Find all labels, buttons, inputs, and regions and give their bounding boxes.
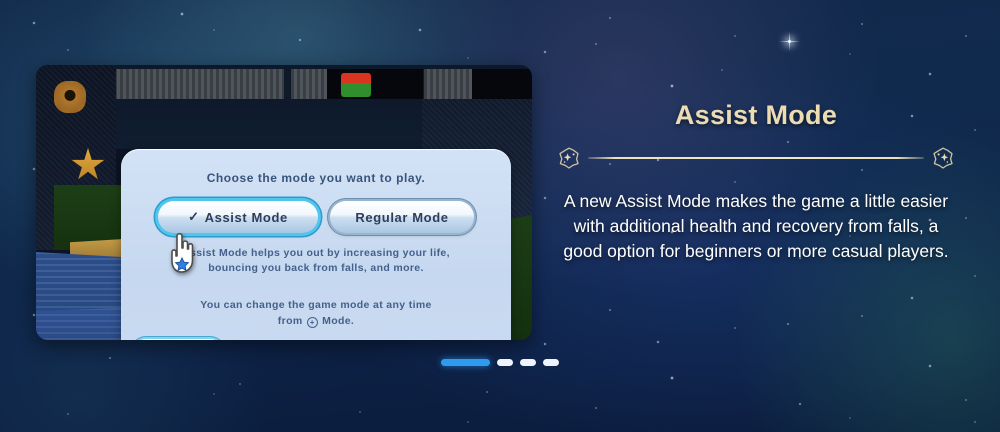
gem-sparkle-icon [930,145,956,171]
game-grate-platform [424,69,472,99]
dialog-note-prefix: from [278,315,303,327]
regular-mode-button-label: Regular Mode [355,210,448,225]
feature-info-panel: Assist Mode A new Assist [556,100,956,264]
back-button[interactable]: B Back [133,339,223,340]
assist-mode-feature-slide: Choose the mode you want to play. ✓ Assi… [0,0,1000,432]
dialog-description-line-1: Assist Mode helps you out by increasing … [121,246,511,261]
dialog-note: You can change the game mode at any time… [121,298,511,328]
dialog-description: Assist Mode helps you out by increasing … [121,246,511,276]
game-collectible-item [341,73,371,97]
game-grate-platform [114,69,284,99]
pagination-dot-3[interactable] [520,359,536,366]
regular-mode-button[interactable]: Regular Mode [330,201,474,233]
dialog-prompt-text: Choose the mode you want to play. [121,171,511,185]
gem-sparkle-icon [556,145,582,171]
pagination-dot-2[interactable] [497,359,513,366]
divider-line [588,157,924,159]
dialog-note-line-2: from + Mode. [121,314,511,329]
bright-star-icon [788,40,791,43]
pagination [0,359,1000,366]
check-icon: ✓ [188,209,200,225]
game-grate-platform [291,69,327,99]
dialog-description-line-2: bouncing you back from falls, and more. [121,261,511,276]
pagination-dot-4[interactable] [543,359,559,366]
game-cog-icon [54,81,86,113]
dialog-note-line-1: You can change the game mode at any time [121,298,511,313]
plus-button-icon: + [307,317,318,328]
dialog-note-suffix: Mode. [322,315,354,327]
pagination-dot-1[interactable] [441,359,490,366]
mode-selection-dialog: Choose the mode you want to play. ✓ Assi… [121,149,511,340]
feature-description: A new Assist Mode makes the game a littl… [556,189,956,264]
game-screenshot-card: Choose the mode you want to play. ✓ Assi… [36,65,532,340]
divider-row [556,145,956,171]
assist-mode-button-label: Assist Mode [205,210,288,225]
page-title: Assist Mode [556,100,956,131]
game-dark-gap [472,69,532,99]
mode-button-group: ✓ Assist Mode Regular Mode [121,201,511,233]
assist-mode-button[interactable]: ✓ Assist Mode [158,201,318,233]
